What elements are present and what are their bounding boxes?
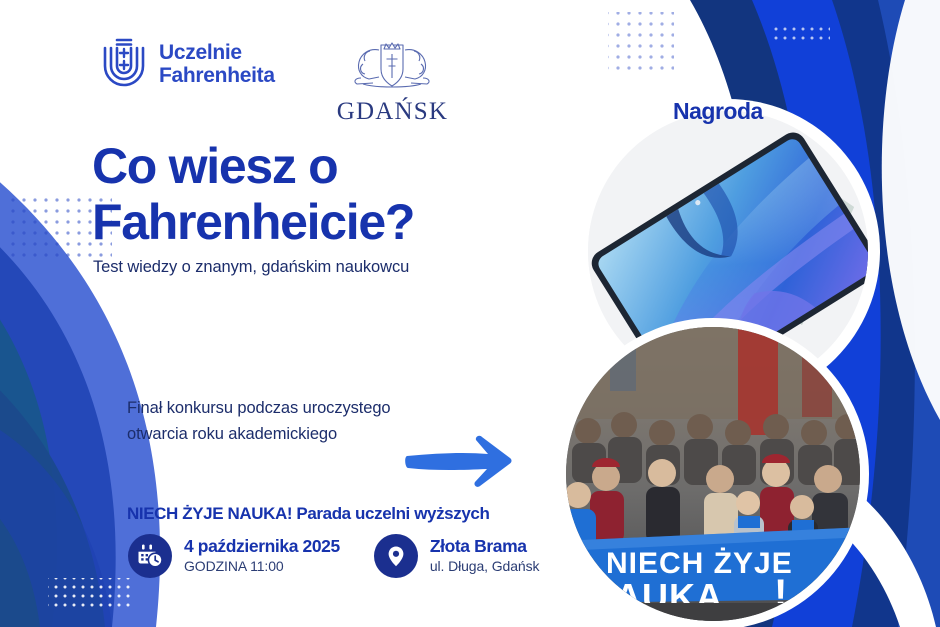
event-date-time: GODZINA 11:00 xyxy=(184,557,340,576)
logo-row: Uczelnie Fahrenheita xyxy=(100,36,448,126)
shape-blue-highlight-right xyxy=(878,0,940,627)
event-location-text: Złota Brama ul. Długa, Gdańsk xyxy=(430,536,540,576)
swoosh-white-top-right xyxy=(882,0,940,420)
uczelnie-fahrenheita-logo-icon xyxy=(100,36,148,93)
poster: Uczelnie Fahrenheita xyxy=(0,0,940,627)
city-logo: GDAŃSK xyxy=(337,36,448,126)
event-date-item: 4 października 2025 GODZINA 11:00 xyxy=(128,534,340,578)
event-location-title: Złota Brama xyxy=(430,536,540,557)
location-pin-icon xyxy=(374,534,418,578)
event-date-text: 4 października 2025 GODZINA 11:00 xyxy=(184,536,340,576)
headline-line1: Co wiesz o xyxy=(92,138,337,194)
page-title: Co wiesz o Fahrenheicie? xyxy=(92,138,414,250)
calendar-clock-icon xyxy=(128,534,172,578)
dot-grid-top-far-right xyxy=(772,22,830,42)
gdansk-coat-of-arms-icon xyxy=(339,36,445,97)
arrow-right-icon xyxy=(404,432,516,490)
prize-label: Nagroda xyxy=(673,98,763,125)
event-date-title: 4 października 2025 xyxy=(184,536,340,557)
parade-crowd-image: NIECH ŻYJE NAUKA ! xyxy=(557,318,869,627)
content-column: Uczelnie Fahrenheita xyxy=(0,0,560,627)
event-location-item: Złota Brama ul. Długa, Gdańsk xyxy=(374,534,540,578)
parade-headline: NIECH ŻYJE NAUKA! Parada uczelni wyższyc… xyxy=(127,504,489,524)
city-logo-label: GDAŃSK xyxy=(337,98,448,126)
subheadline: Test wiedzy o znanym, gdańskim naukowcu xyxy=(93,258,409,277)
dot-grid-top-right xyxy=(608,12,674,72)
event-description: Finał konkursu podczas uroczystego otwar… xyxy=(127,396,391,447)
university-logo-line1: Uczelnie xyxy=(159,42,275,65)
university-logo-line2: Fahrenheita xyxy=(159,65,275,88)
svg-text:!: ! xyxy=(774,572,787,616)
university-logo: Uczelnie Fahrenheita xyxy=(100,36,275,93)
event-location-address: ul. Długa, Gdańsk xyxy=(430,557,540,576)
event-info-row: 4 października 2025 GODZINA 11:00 Złota … xyxy=(128,534,539,578)
university-logo-text: Uczelnie Fahrenheita xyxy=(159,42,275,87)
event-description-line2: otwarcia roku akademickiego xyxy=(127,425,337,443)
event-description-line1: Finał konkursu podczas uroczystego xyxy=(127,399,391,417)
headline-line2: Fahrenheicie? xyxy=(92,194,414,250)
